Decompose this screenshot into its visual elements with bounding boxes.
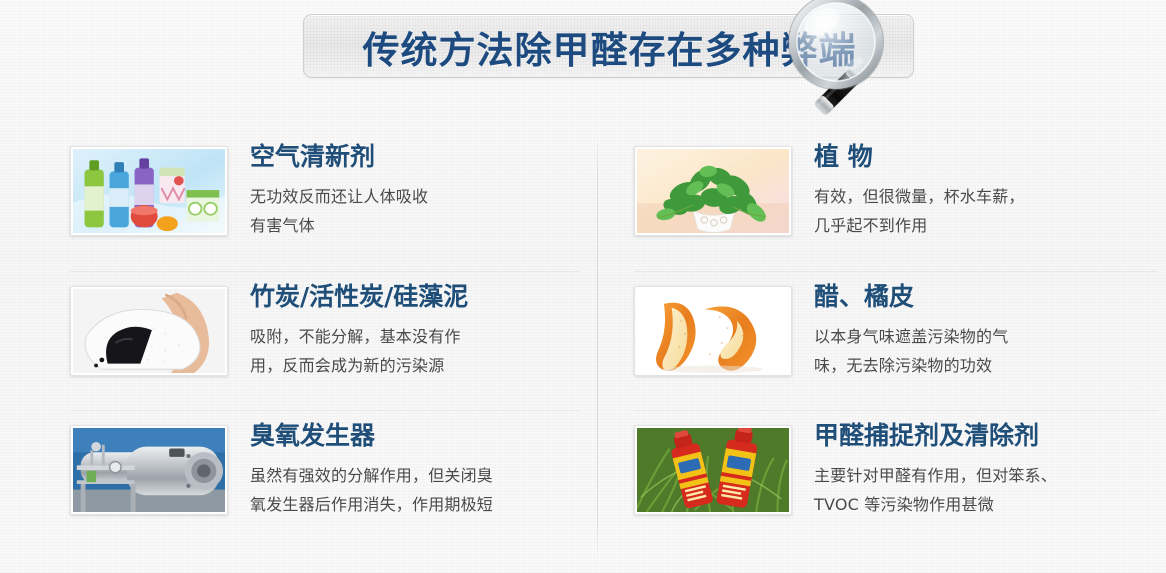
orange-peel-spiral-photo (634, 286, 792, 376)
item-description-line: 有害气体 (250, 211, 580, 241)
green-pothos-plant-photo (634, 146, 792, 236)
item-title: 空气清新剂 (250, 142, 580, 173)
ozone-generator-machine-photo (70, 425, 228, 515)
item-description: 以本身气味遮盖污染物的气 味，无去除污染物的功效 (814, 322, 1158, 381)
item-description-line: 以本身气味遮盖污染物的气 (814, 322, 1158, 352)
item-description-line: TVOC 等污染物作用甚微 (814, 490, 1158, 520)
list-item: 醋、橘皮 以本身气味遮盖污染物的气 味，无去除污染物的功效 (634, 271, 1158, 410)
item-description-line: 几乎起不到作用 (814, 211, 1158, 241)
air-freshener-bottles-photo (70, 146, 228, 236)
item-title: 臭氧发生器 (250, 421, 580, 452)
item-text-block: 臭氧发生器 虽然有强效的分解作用，但关闭臭 氧发生器后作用消失，作用期极短 (250, 419, 580, 520)
item-description: 主要针对甲醛有作用，但对笨系、 TVOC 等污染物作用甚微 (814, 461, 1158, 520)
list-item: 植 物 有效，但很微量，杯水车薪， 几乎起不到作用 (634, 132, 1158, 271)
right-column: 植 物 有效，但很微量，杯水车薪， 几乎起不到作用 (634, 132, 1166, 549)
title-banner: 传统方法除甲醛存在多种弊端 (303, 14, 914, 78)
item-description: 吸附，不能分解，基本没有作 用，反而会成为新的污染源 (250, 322, 580, 381)
item-description-line: 吸附，不能分解，基本没有作 (250, 322, 580, 352)
item-text-block: 植 物 有效，但很微量，杯水车薪， 几乎起不到作用 (814, 140, 1158, 241)
item-description-line: 主要针对甲醛有作用，但对笨系、 (814, 461, 1158, 491)
item-description-line: 味，无去除污染物的功效 (814, 351, 1158, 381)
formaldehyde-remover-spray-photo (634, 425, 792, 515)
methods-comparison-grid: 空气清新剂 无功效反而还让人体吸收 有害气体 (0, 132, 1166, 573)
item-description-line: 氧发生器后作用消失，作用期极短 (250, 490, 580, 520)
item-title: 植 物 (814, 142, 1158, 173)
item-title: 醋、橘皮 (814, 282, 1158, 313)
list-item: 甲醛捕捉剂及清除剂 主要针对甲醛有作用，但对笨系、 TVOC 等污染物作用甚微 (634, 410, 1158, 549)
item-title: 甲醛捕捉剂及清除剂 (814, 421, 1158, 452)
item-text-block: 甲醛捕捉剂及清除剂 主要针对甲醛有作用，但对笨系、 TVOC 等污染物作用甚微 (814, 419, 1158, 520)
bamboo-charcoal-bag-photo (70, 286, 228, 376)
item-text-block: 空气清新剂 无功效反而还让人体吸收 有害气体 (250, 140, 580, 241)
item-description-line: 无功效反而还让人体吸收 (250, 182, 580, 212)
page-title: 传统方法除甲醛存在多种弊端 (304, 15, 915, 79)
item-description-line: 虽然有强效的分解作用，但关闭臭 (250, 461, 580, 491)
left-column: 空气清新剂 无功效反而还让人体吸收 有害气体 (70, 132, 630, 549)
item-title: 竹炭/活性炭/硅藻泥 (250, 282, 580, 313)
list-item: 臭氧发生器 虽然有强效的分解作用，但关闭臭 氧发生器后作用消失，作用期极短 (70, 410, 580, 549)
page-header: 传统方法除甲醛存在多种弊端 (0, 0, 1166, 132)
item-description-line: 有效，但很微量，杯水车薪， (814, 182, 1158, 212)
list-item: 空气清新剂 无功效反而还让人体吸收 有害气体 (70, 132, 580, 271)
item-description-line: 用，反而会成为新的污染源 (250, 351, 580, 381)
list-item: 竹炭/活性炭/硅藻泥 吸附，不能分解，基本没有作 用，反而会成为新的污染源 (70, 271, 580, 410)
item-text-block: 竹炭/活性炭/硅藻泥 吸附，不能分解，基本没有作 用，反而会成为新的污染源 (250, 280, 580, 381)
item-description: 有效，但很微量，杯水车薪， 几乎起不到作用 (814, 182, 1158, 241)
item-description: 无功效反而还让人体吸收 有害气体 (250, 182, 580, 241)
item-description: 虽然有强效的分解作用，但关闭臭 氧发生器后作用消失，作用期极短 (250, 461, 580, 520)
item-text-block: 醋、橘皮 以本身气味遮盖污染物的气 味，无去除污染物的功效 (814, 280, 1158, 381)
